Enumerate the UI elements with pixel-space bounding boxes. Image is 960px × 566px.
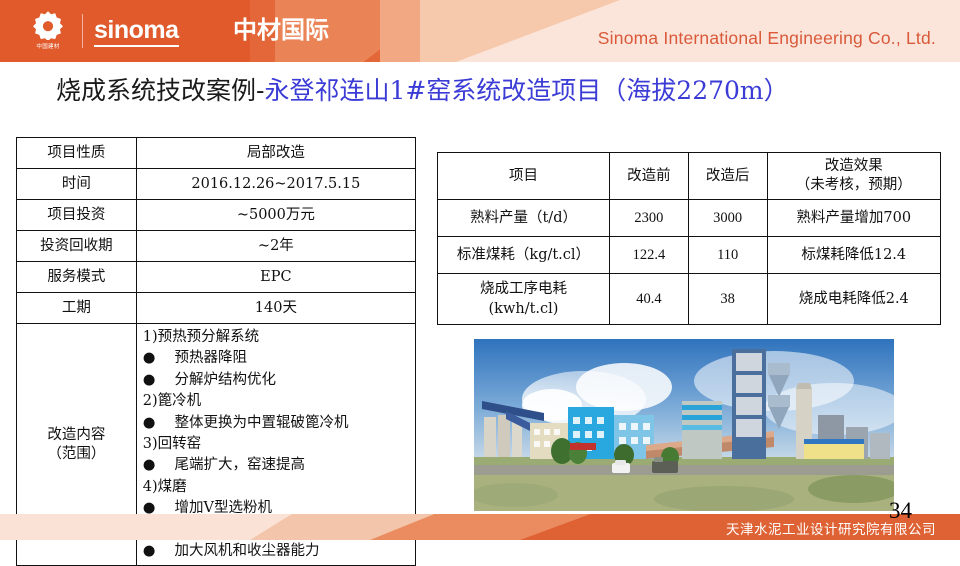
table-row: 熟料产量（t/d） 2300 3000 熟料产量增加700	[438, 200, 941, 237]
header-item: 项目	[438, 153, 610, 200]
header-effect-line1: 改造效果	[825, 158, 883, 174]
table-row: 项目投资 ~5000万元	[17, 200, 416, 231]
scope-line: ● 尾端扩大，窑速提高	[143, 455, 413, 476]
table-row: 时间 2016.12.26~2017.5.15	[17, 169, 416, 200]
row-value: 局部改造	[136, 138, 415, 169]
header-before: 改造前	[609, 153, 688, 200]
header-effect-line2: （未考核，预期）	[796, 177, 912, 193]
page-title-dark: 烧成系统技改案例-	[56, 76, 264, 105]
row-value: ~5000万元	[136, 200, 415, 231]
cell-item-line1: 烧成工序电耗	[480, 281, 567, 297]
table-row: 投资回收期 ~2年	[17, 231, 416, 262]
scope-label-line2: （范围）	[47, 446, 105, 462]
header-triangle-4	[420, 0, 620, 62]
scope-line: 2)篦冷机	[143, 391, 413, 412]
page-title-blue: 永登祁连山1#窑系统改造项目（海拔2270m）	[264, 76, 788, 105]
scope-line: ● 预热器降阻	[143, 348, 413, 369]
row-label: 投资回收期	[17, 231, 137, 262]
scope-line: 1)预热预分解系统	[143, 327, 413, 348]
header-effect: 改造效果 （未考核，预期）	[767, 153, 940, 200]
table-header-row: 项目 改造前 改造后 改造效果 （未考核，预期）	[438, 153, 941, 200]
cement-plant-photo	[474, 339, 894, 511]
row-label: 项目性质	[17, 138, 137, 169]
brand-chinese-text: 中材国际	[233, 16, 329, 44]
cell-item: 熟料产量（t/d）	[438, 200, 610, 237]
row-label: 工期	[17, 293, 137, 324]
logo-sub-text: 中国建材	[36, 42, 59, 50]
row-label: 时间	[17, 169, 137, 200]
table-row: 工期 140天	[17, 293, 416, 324]
brand-latin-text: sinoma	[94, 16, 179, 47]
cell-item: 烧成工序电耗 (kwh/t.cl)	[438, 274, 610, 325]
results-comparison-table: 项目 改造前 改造后 改造效果 （未考核，预期） 熟料产量（t/d） 2300 …	[437, 152, 941, 325]
table-row: 烧成工序电耗 (kwh/t.cl) 40.4 38 烧成电耗降低2.4	[438, 274, 941, 325]
footer-shape-1	[0, 514, 300, 540]
page-title: 烧成系统技改案例-永登祁连山1#窑系统改造项目（海拔2270m）	[56, 74, 789, 108]
cell-after: 3000	[688, 200, 767, 237]
scope-line: ● 加大风机和收尘器能力	[143, 541, 413, 562]
cell-before: 2300	[609, 200, 688, 237]
scope-line: 4)煤磨	[143, 477, 413, 498]
scope-label-line1: 改造内容	[47, 427, 105, 443]
row-value: EPC	[136, 262, 415, 293]
cell-after: 38	[688, 274, 767, 325]
row-label: 服务模式	[17, 262, 137, 293]
scope-line: ● 分解炉结构优化	[143, 370, 413, 391]
row-value: 2016.12.26~2017.5.15	[136, 169, 415, 200]
table-row: 服务模式 EPC	[17, 262, 416, 293]
logo-divider	[82, 14, 83, 48]
project-info-table: 项目性质 局部改造 时间 2016.12.26~2017.5.15 项目投资 ~…	[16, 137, 416, 566]
cell-effect: 标煤耗降低12.4	[767, 237, 940, 274]
company-english-name: Sinoma International Engineering Co., Lt…	[598, 28, 936, 49]
header-band: 中国建材 sinoma 中材国际 Sinoma International En…	[0, 0, 960, 62]
scope-line: ● 整体更换为中置辊破篦冷机	[143, 413, 413, 434]
table-row: 标准煤耗（kg/t.cl） 122.4 110 标煤耗降低12.4	[438, 237, 941, 274]
cell-item-line2: (kwh/t.cl)	[489, 301, 559, 317]
cell-effect: 烧成电耗降低2.4	[767, 274, 940, 325]
row-label: 项目投资	[17, 200, 137, 231]
cell-after: 110	[688, 237, 767, 274]
page-number: 34	[889, 498, 912, 524]
row-value: 140天	[136, 293, 415, 324]
sinoma-logo: 中国建材	[26, 9, 70, 54]
header-after: 改造后	[688, 153, 767, 200]
cell-before: 122.4	[609, 237, 688, 274]
table-row: 项目性质 局部改造	[17, 138, 416, 169]
scope-line: 3)回转窑	[143, 434, 413, 455]
footer-band: 天津水泥工业设计研究院有限公司	[0, 514, 960, 540]
cnbm-gear-icon	[33, 10, 63, 40]
cell-item: 标准煤耗（kg/t.cl）	[438, 237, 610, 274]
cell-effect: 熟料产量增加700	[767, 200, 940, 237]
cell-before: 40.4	[609, 274, 688, 325]
row-value: ~2年	[136, 231, 415, 262]
plant-photo-illustration	[474, 339, 894, 511]
